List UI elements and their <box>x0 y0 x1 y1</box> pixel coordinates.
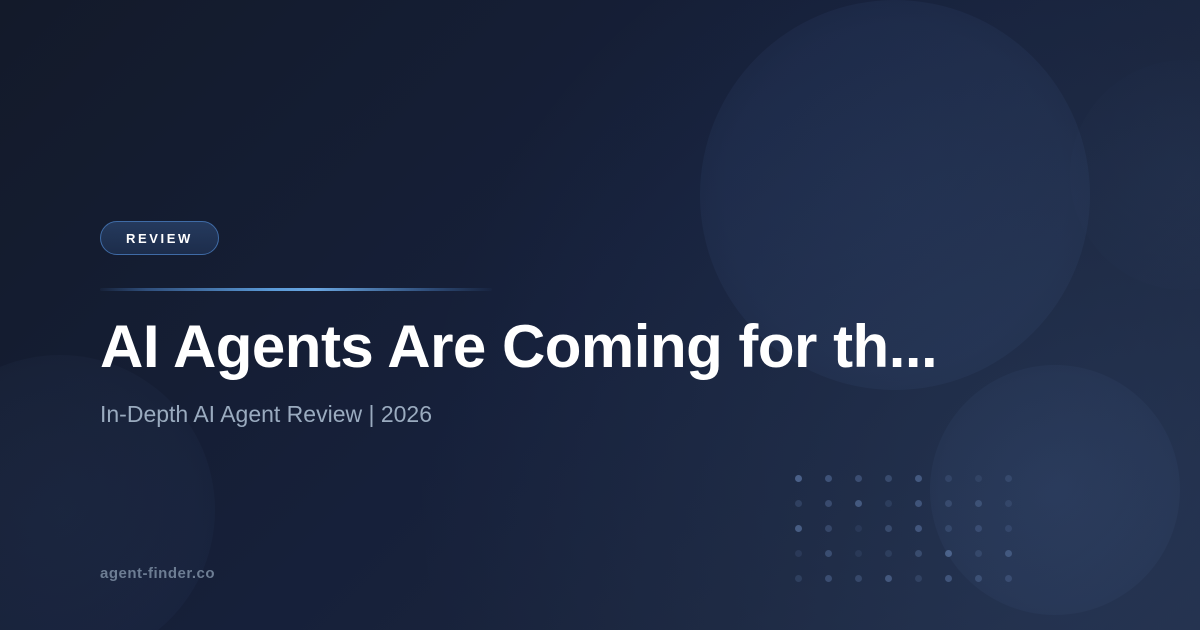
card-content: REVIEW AI Agents Are Coming for th... In… <box>100 0 1100 630</box>
social-share-card: REVIEW AI Agents Are Coming for th... In… <box>0 0 1200 630</box>
page-subtitle: In-Depth AI Agent Review | 2026 <box>100 399 432 429</box>
footer-domain-label: agent-finder.co <box>100 564 215 584</box>
accent-divider <box>100 288 492 291</box>
page-title: AI Agents Are Coming for th... <box>100 311 1030 383</box>
category-badge: REVIEW <box>100 221 219 255</box>
